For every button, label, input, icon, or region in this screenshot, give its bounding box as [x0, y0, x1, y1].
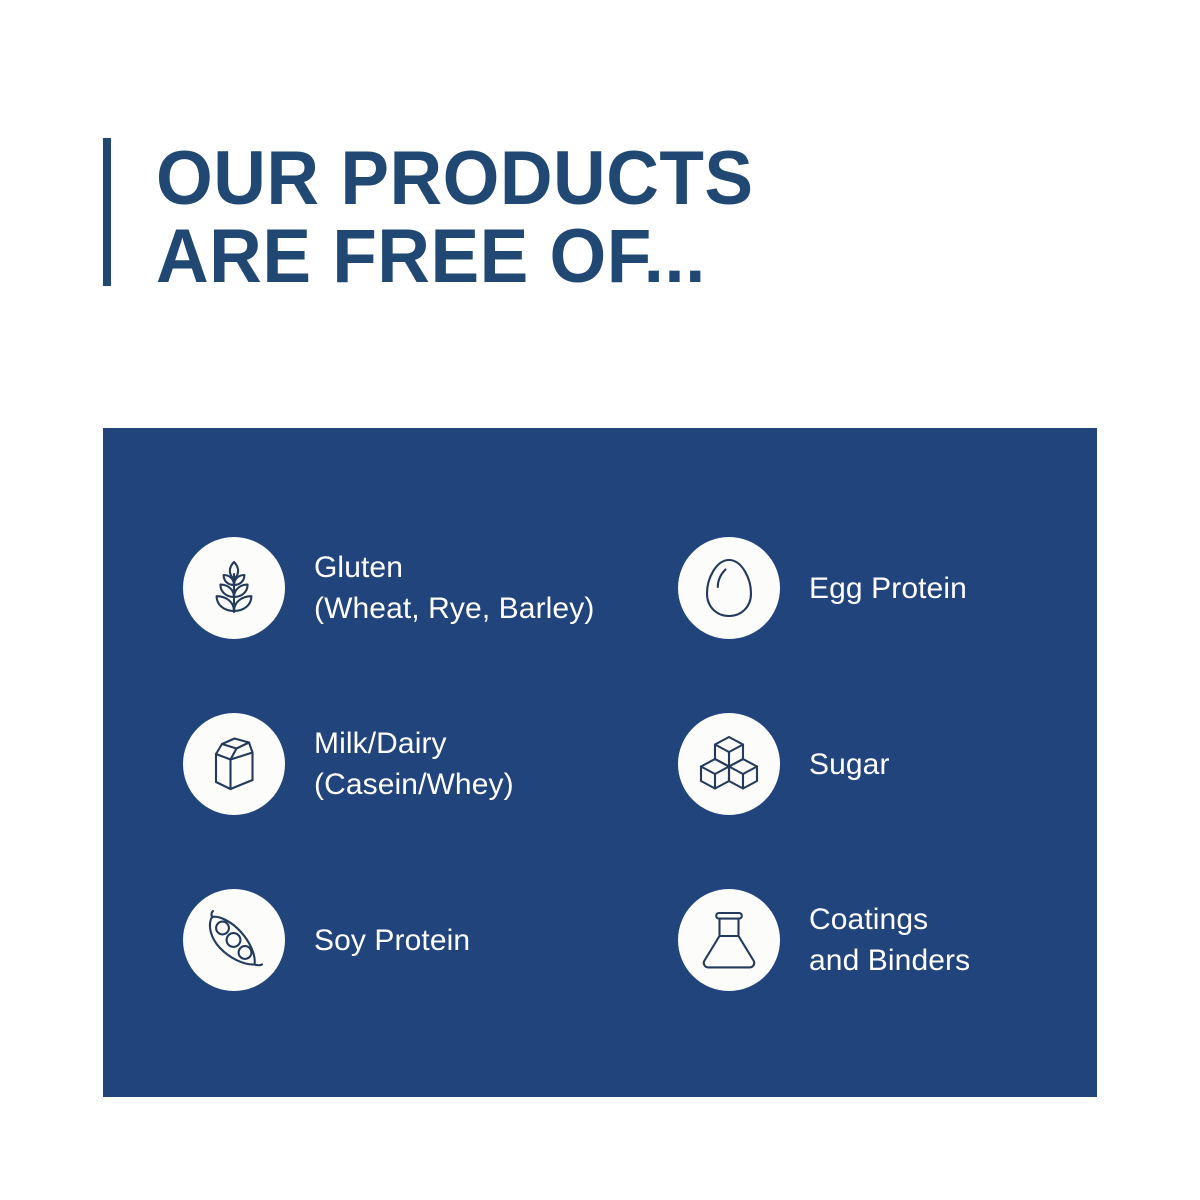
list-item-label: Soy Protein — [314, 920, 470, 961]
free-of-row: Soy Protein — [183, 852, 1083, 1028]
free-of-row: Milk/Dairy (Casein/Whey) — [183, 676, 1083, 852]
list-item-label: Sugar — [809, 744, 890, 785]
list-item-gluten: Gluten (Wheat, Rye, Barley) — [183, 500, 678, 676]
list-item-label: Coatings and Binders — [809, 899, 970, 981]
list-item-label: Gluten (Wheat, Rye, Barley) — [314, 547, 594, 629]
egg-icon — [678, 537, 780, 639]
list-item-label-line-1: Sugar — [809, 744, 890, 785]
list-item-label-line-1: Egg Protein — [809, 568, 967, 609]
sugar-cubes-icon — [678, 713, 780, 815]
list-item-label-line-2: (Wheat, Rye, Barley) — [314, 588, 594, 629]
list-item-label-line-1: Gluten — [314, 547, 594, 588]
soybean-pod-icon — [183, 889, 285, 991]
free-of-panel: Gluten (Wheat, Rye, Barley) — [103, 428, 1097, 1097]
list-item-label-line-2: and Binders — [809, 940, 970, 981]
list-item-label-line-2: (Casein/Whey) — [314, 764, 514, 805]
list-item-label-line-1: Coatings — [809, 899, 970, 940]
list-item-sugar: Sugar — [678, 676, 1083, 852]
list-item-label-line-1: Soy Protein — [314, 920, 470, 961]
list-item-soy-protein: Soy Protein — [183, 852, 678, 1028]
milk-carton-icon — [183, 713, 285, 815]
free-of-grid: Gluten (Wheat, Rye, Barley) — [183, 500, 1083, 1028]
list-item-label: Milk/Dairy (Casein/Whey) — [314, 723, 514, 805]
page-title-line-2: Are Free Of... — [156, 218, 754, 296]
list-item-coatings-and-binders: Coatings and Binders — [678, 852, 1083, 1028]
list-item-milk-dairy: Milk/Dairy (Casein/Whey) — [183, 676, 678, 852]
infographic-page: Our Products Are Free Of... — [0, 0, 1200, 1200]
list-item-label-line-1: Milk/Dairy — [314, 723, 514, 764]
page-heading: Our Products Are Free Of... — [103, 138, 778, 296]
wheat-grain-icon — [183, 537, 285, 639]
flask-icon — [678, 889, 780, 991]
free-of-row: Gluten (Wheat, Rye, Barley) — [183, 500, 1083, 676]
page-title: Our Products Are Free Of... — [156, 138, 754, 296]
heading-accent-bar — [103, 138, 111, 286]
list-item-label: Egg Protein — [809, 568, 967, 609]
page-title-line-1: Our Products — [156, 140, 754, 218]
list-item-egg-protein: Egg Protein — [678, 500, 1083, 676]
